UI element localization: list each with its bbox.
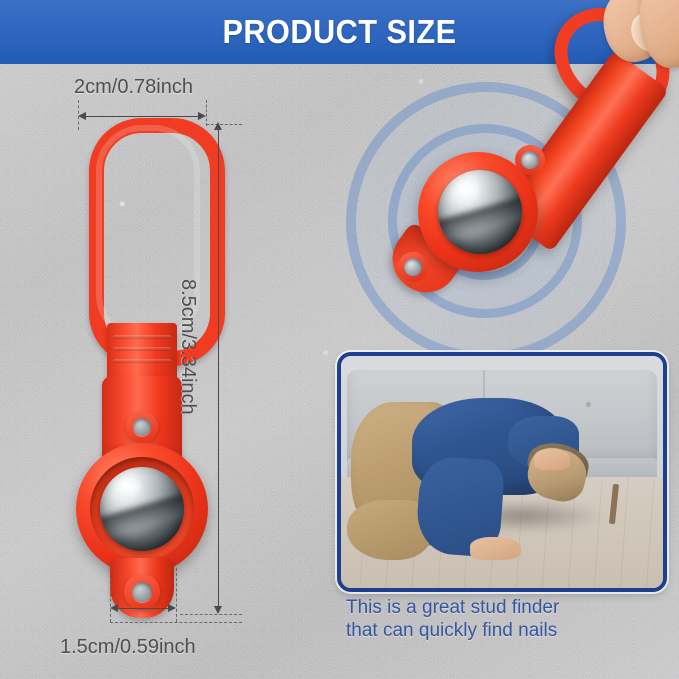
strap-ridge	[113, 359, 171, 363]
height-arrow-head-bottom	[214, 606, 222, 614]
bottom-hole	[132, 582, 152, 602]
strap-ridge	[113, 335, 171, 339]
person-hand-sofa	[534, 449, 569, 470]
bottom-width-arrow-line	[118, 608, 168, 609]
bottom-hole-angled	[404, 258, 422, 276]
person-hand-floor	[470, 537, 522, 560]
ball-shading	[438, 195, 522, 244]
height-arrow-line	[218, 130, 219, 608]
height-arrow-head-top	[214, 122, 222, 130]
caption-line-2: that can quickly find nails	[346, 619, 656, 642]
caption-line-1: This is a great stud finder	[346, 596, 656, 619]
strap-ridge	[113, 347, 171, 351]
mount-hole	[133, 418, 151, 436]
height-dimension-label: 8.5cm/3.34inch	[176, 279, 199, 415]
bottom-width-arrow-head-right	[168, 604, 176, 612]
guide-dash-tab-right	[176, 568, 177, 622]
photo-caption: This is a great stud finder that can qui…	[346, 596, 656, 642]
lifestyle-photo	[337, 352, 667, 592]
product-size-infographic: PRODUCT SIZE 2cm/0.78inch 8.5cm/3.34inch…	[0, 0, 679, 679]
metal-ball-angled	[438, 170, 522, 254]
ball-specular-highlight	[115, 477, 144, 497]
hand-holding-product	[586, 0, 679, 90]
bottom-width-dimension-label: 1.5cm/0.59inch	[60, 636, 196, 659]
metal-ball	[100, 467, 184, 551]
guide-dash-bottom	[180, 614, 242, 615]
ball-shading	[100, 492, 184, 541]
width-arrow-head-left	[78, 112, 86, 120]
ball-specular-highlight	[453, 180, 482, 200]
guide-dash-right	[206, 100, 207, 126]
width-arrow-head-right	[198, 112, 206, 120]
bottom-width-arrow-head-left	[110, 604, 118, 612]
mount-hole-angled	[521, 151, 539, 169]
guide-dash-tab-left	[110, 578, 111, 622]
guide-dash-tab-bottom	[110, 622, 242, 623]
width-dimension-label: 2cm/0.78inch	[74, 76, 193, 99]
product-in-use-view	[340, 60, 679, 350]
guide-dash-top	[206, 124, 242, 125]
width-arrow-line	[86, 116, 198, 117]
